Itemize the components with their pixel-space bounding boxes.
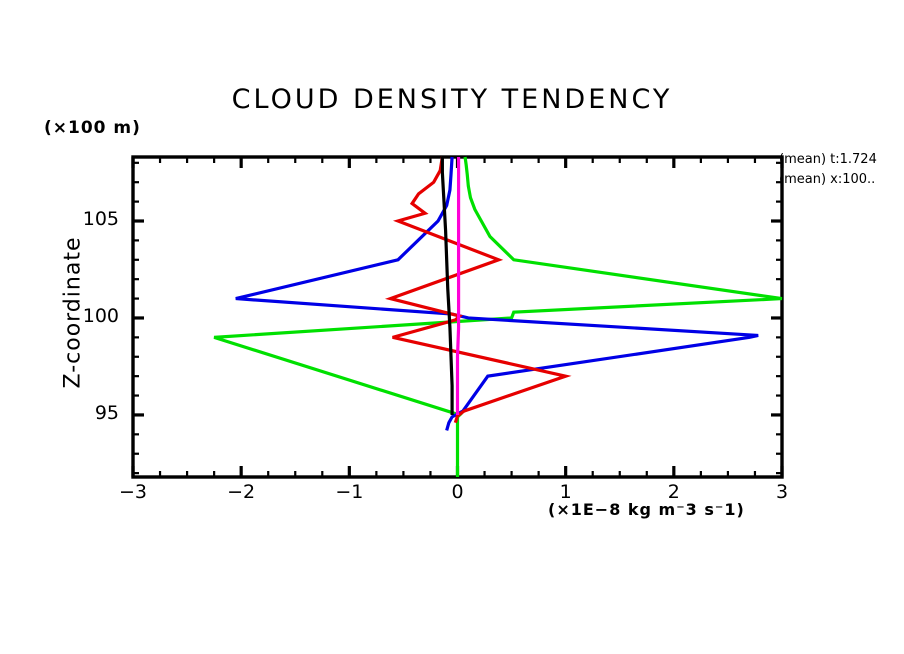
plot-area [0,0,904,654]
y-tick-label: 105 [59,208,119,230]
series-line-blue [236,157,758,430]
x-tick-label: −3 [103,481,163,503]
y-tick-label: 95 [59,402,119,424]
x-tick-label: −2 [211,481,271,503]
x-tick-label: −1 [319,481,379,503]
series-line-red [390,157,565,423]
right-edge-clip-mask [888,146,904,192]
y-tick-label: 100 [59,305,119,327]
x-tick-label: 1 [536,481,596,503]
series-line-magenta [458,157,459,415]
x-tick-label: 3 [752,481,812,503]
x-tick-label: 2 [644,481,704,503]
figure-canvas: CLOUD DENSITY TENDENCY (×100 m) Z-coordi… [0,0,904,654]
data-series-group [214,157,782,477]
x-tick-label: 0 [428,481,488,503]
series-line-green [214,157,782,477]
